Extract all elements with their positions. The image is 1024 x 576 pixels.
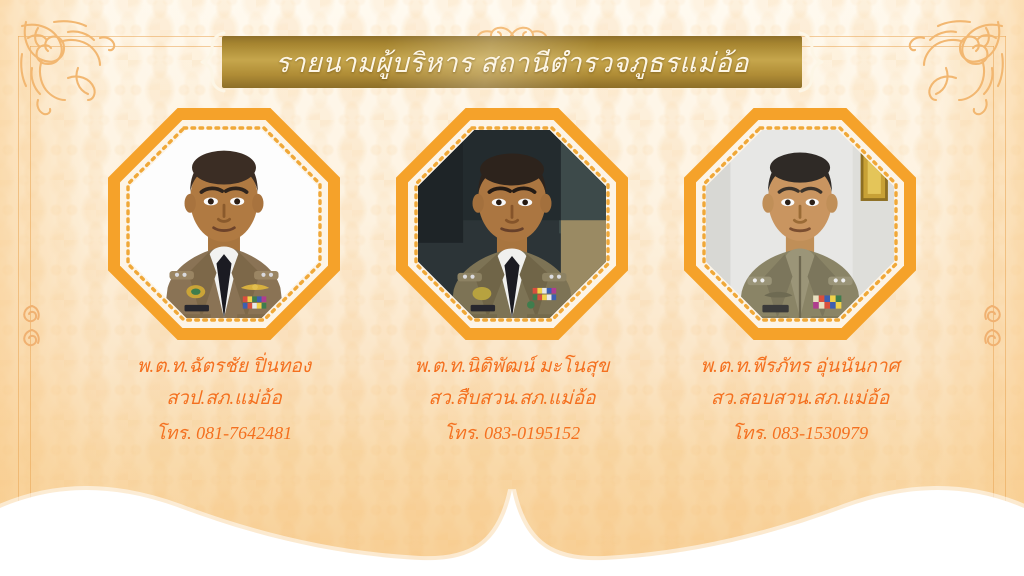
person-phone: โทร. 081-7642481	[137, 416, 311, 450]
brace-right-icon	[794, 30, 828, 94]
person-info: พ.ต.ท.พีรภัทร อุ่นนันกาศ สว.สอบสวน.สภ.แม…	[701, 352, 900, 450]
person-role: สว.สืบสวน.สภ.แม่อ้อ	[415, 382, 610, 416]
octagon-photo-frame	[108, 108, 340, 340]
person-role: สวป.สภ.แม่อ้อ	[137, 382, 311, 416]
person-info: พ.ต.ท.นิติพัฒน์ มะโนสุข สว.สืบสวน.สภ.แม่…	[415, 352, 610, 450]
poster-canvas: รายนามผู้บริหาร สถานีตำรวจภูธรแม่อ้อ	[0, 0, 1024, 576]
person-card[interactable]: พ.ต.ท.นิติพัฒน์ มะโนสุข สว.สืบสวน.สภ.แม่…	[396, 108, 628, 450]
person-name: พ.ต.ท.พีรภัทร อุ่นนันกาศ	[701, 352, 900, 382]
page-title: รายนามผู้บริหาร สถานีตำรวจภูธรแม่อ้อ	[222, 36, 802, 88]
octagon-photo-frame	[396, 108, 628, 340]
person-card[interactable]: พ.ต.ท.ฉัตรชัย ปิ่นทอง สวป.สภ.แม่อ้อ โทร.…	[108, 108, 340, 450]
person-role: สว.สอบสวน.สภ.แม่อ้อ	[701, 382, 900, 416]
bottom-wave-shape	[0, 456, 1024, 576]
octagon-photo-frame	[684, 108, 916, 340]
people-row: พ.ต.ท.ฉัตรชัย ปิ่นทอง สวป.สภ.แม่อ้อ โทร.…	[0, 108, 1024, 450]
person-phone: โทร. 083-1530979	[701, 416, 900, 450]
portrait-photo	[418, 130, 606, 318]
person-info: พ.ต.ท.ฉัตรชัย ปิ่นทอง สวป.สภ.แม่อ้อ โทร.…	[137, 352, 311, 450]
person-card[interactable]: พ.ต.ท.พีรภัทร อุ่นนันกาศ สว.สอบสวน.สภ.แม…	[684, 108, 916, 450]
person-name: พ.ต.ท.ฉัตรชัย ปิ่นทอง	[137, 352, 311, 382]
person-name: พ.ต.ท.นิติพัฒน์ มะโนสุข	[415, 352, 610, 382]
title-banner: รายนามผู้บริหาร สถานีตำรวจภูธรแม่อ้อ	[222, 36, 802, 88]
portrait-photo	[706, 130, 894, 318]
person-phone: โทร. 083-0195152	[415, 416, 610, 450]
